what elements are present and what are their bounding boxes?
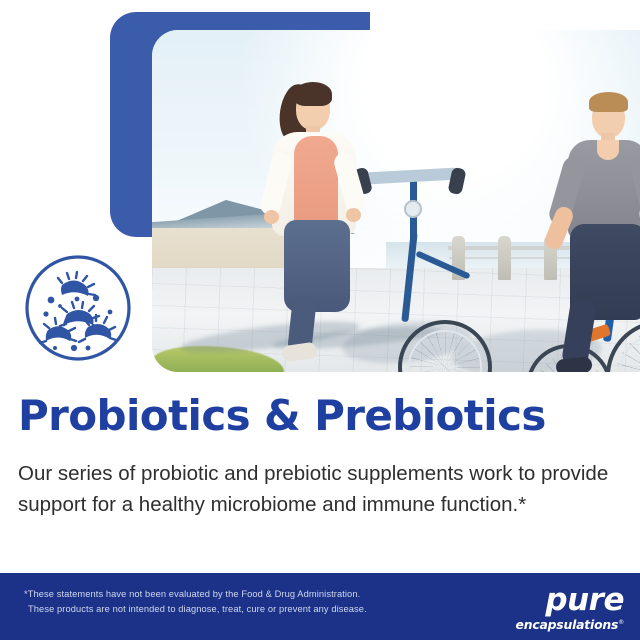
disclaimer-line-1: *These statements have not been evaluate…	[24, 587, 424, 602]
hair	[294, 82, 332, 106]
logo-subtext-label: encapsulations	[516, 617, 619, 632]
bicycle-frame	[415, 250, 470, 279]
footer-bar: *These statements have not been evaluate…	[0, 573, 640, 640]
hand	[346, 208, 361, 222]
microbiome-icon	[22, 252, 134, 364]
peach-tank-top	[294, 136, 338, 228]
cyclist-man	[544, 78, 640, 372]
bicycle-frame	[401, 232, 417, 322]
cyclist-woman	[248, 70, 398, 370]
hand	[264, 210, 279, 224]
fda-disclaimer: *These statements have not been evaluate…	[24, 587, 424, 617]
logo-wordmark: pure	[492, 585, 624, 616]
logo-subtext: encapsulations®	[516, 619, 625, 631]
page-title: Probiotics & Prebiotics	[18, 394, 546, 438]
v-neck	[597, 140, 619, 160]
hero-photo	[152, 30, 640, 372]
subcopy-text: Our series of probiotic and prebiotic su…	[18, 458, 614, 520]
shoe	[555, 356, 592, 372]
shoe	[281, 342, 317, 363]
hair	[589, 92, 628, 112]
pure-encapsulations-logo[interactable]: pure encapsulations®	[492, 585, 624, 629]
registered-trademark-icon: ®	[618, 619, 624, 626]
disclaimer-line-2: These products are not intended to diagn…	[24, 602, 424, 617]
bicycle-bell	[404, 200, 422, 218]
